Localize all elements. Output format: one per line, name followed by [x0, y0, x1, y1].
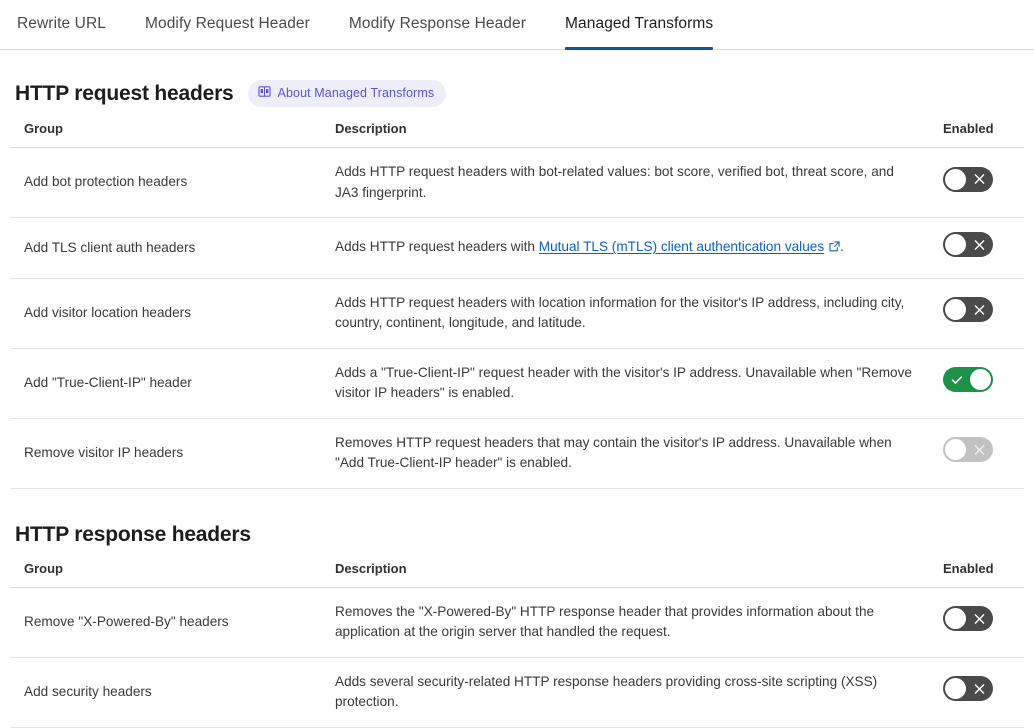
page-title-response: HTTP response headers [15, 523, 251, 547]
row-enabled-cell [930, 587, 1024, 657]
toggle-knob [945, 439, 966, 460]
tab-managed-transforms[interactable]: Managed Transforms [565, 0, 713, 49]
row-description-text: Removes HTTP request headers that may co… [335, 433, 912, 474]
row-description: Adds HTTP request headers with Mutual TL… [330, 218, 930, 279]
toggle-add-true-client-ip-header[interactable] [943, 367, 993, 392]
response-headers-table: Group Description Enabled Remove "X-Powe… [10, 561, 1024, 728]
row-description-text: Adds HTTP request headers with location … [335, 293, 912, 334]
row-enabled-cell [930, 218, 1024, 279]
request-section-header: HTTP request headers About Managed Trans… [10, 80, 1024, 107]
row-group-name: Add bot protection headers [10, 148, 330, 218]
toggle-knob [945, 234, 966, 255]
table-row: Add "True-Client-IP" header Adds a "True… [10, 348, 1024, 418]
column-header-description: Description [330, 561, 930, 588]
check-icon [951, 374, 963, 386]
row-description-text: Removes the "X-Powered-By" HTTP response… [335, 602, 912, 643]
toggle-add-tls-client-auth-headers[interactable] [943, 232, 993, 257]
row-description-text: Adds several security-related HTTP respo… [335, 672, 912, 713]
book-icon [258, 85, 271, 102]
table-row: Add security headers Adds several securi… [10, 657, 1024, 727]
row-group-name: Remove "X-Powered-By" headers [10, 587, 330, 657]
table-row: Add bot protection headers Adds HTTP req… [10, 148, 1024, 218]
tab-modify-request-header[interactable]: Modify Request Header [145, 0, 310, 49]
close-icon [974, 613, 985, 624]
row-group-name: Add visitor location headers [10, 278, 330, 348]
row-group-name: Add security headers [10, 657, 330, 727]
toggle-knob [945, 169, 966, 190]
table-row: Remove "X-Powered-By" headers Removes th… [10, 587, 1024, 657]
description-suffix: . [840, 239, 844, 254]
toggle-add-visitor-location-headers[interactable] [943, 297, 993, 322]
tab-bar: Rewrite URL Modify Request Header Modify… [0, 0, 1034, 50]
mutual-tls-link[interactable]: Mutual TLS (mTLS) client authentication … [539, 239, 824, 254]
row-description: Adds several security-related HTTP respo… [330, 657, 930, 727]
row-group-name: Remove visitor IP headers [10, 418, 330, 488]
row-description-text: Adds HTTP request headers with Mutual TL… [335, 237, 912, 259]
row-enabled-cell [930, 418, 1024, 488]
row-description-text: Adds a "True-Client-IP" request header w… [335, 363, 912, 404]
row-group-name: Add "True-Client-IP" header [10, 348, 330, 418]
toggle-remove-visitor-ip-headers [943, 437, 993, 462]
row-description: Adds HTTP request headers with bot-relat… [330, 148, 930, 218]
http-response-headers-section: HTTP response headers Group Description … [10, 523, 1024, 728]
http-request-headers-section: HTTP request headers About Managed Trans… [10, 80, 1024, 489]
about-badge-label: About Managed Transforms [278, 87, 435, 100]
column-header-enabled: Enabled [930, 561, 1024, 588]
row-enabled-cell [930, 278, 1024, 348]
external-link-icon [829, 238, 840, 259]
row-description: Removes the "X-Powered-By" HTTP response… [330, 587, 930, 657]
column-header-group: Group [10, 561, 330, 588]
close-icon [974, 683, 985, 694]
toggle-knob [945, 608, 966, 629]
column-header-description: Description [330, 121, 930, 148]
column-header-group: Group [10, 121, 330, 148]
toggle-knob [945, 678, 966, 699]
close-icon [974, 304, 985, 315]
row-description: Removes HTTP request headers that may co… [330, 418, 930, 488]
description-prefix: Adds HTTP request headers with [335, 239, 539, 254]
toggle-knob [945, 299, 966, 320]
row-description-text: Adds HTTP request headers with bot-relat… [335, 162, 912, 203]
table-row: Add visitor location headers Adds HTTP r… [10, 278, 1024, 348]
row-description: Adds HTTP request headers with location … [330, 278, 930, 348]
request-headers-table: Group Description Enabled Add bot protec… [10, 121, 1024, 489]
row-enabled-cell [930, 657, 1024, 727]
tab-modify-response-header[interactable]: Modify Response Header [349, 0, 526, 49]
toggle-knob [970, 369, 991, 390]
tab-rewrite-url[interactable]: Rewrite URL [17, 0, 106, 49]
row-enabled-cell [930, 148, 1024, 218]
about-managed-transforms-badge[interactable]: About Managed Transforms [248, 80, 447, 107]
page-title-request: HTTP request headers [15, 82, 234, 106]
table-header-row: Group Description Enabled [10, 121, 1024, 148]
response-section-header: HTTP response headers [10, 523, 1024, 547]
close-icon [974, 174, 985, 185]
table-row: Add TLS client auth headers Adds HTTP re… [10, 218, 1024, 279]
row-enabled-cell [930, 348, 1024, 418]
close-icon [974, 444, 985, 455]
toggle-add-security-headers[interactable] [943, 676, 993, 701]
row-description: Adds a "True-Client-IP" request header w… [330, 348, 930, 418]
toggle-add-bot-protection-headers[interactable] [943, 167, 993, 192]
table-row: Remove visitor IP headers Removes HTTP r… [10, 418, 1024, 488]
toggle-remove-x-powered-by-headers[interactable] [943, 606, 993, 631]
close-icon [974, 239, 985, 250]
column-header-enabled: Enabled [930, 121, 1024, 148]
table-header-row: Group Description Enabled [10, 561, 1024, 588]
row-group-name: Add TLS client auth headers [10, 218, 330, 279]
